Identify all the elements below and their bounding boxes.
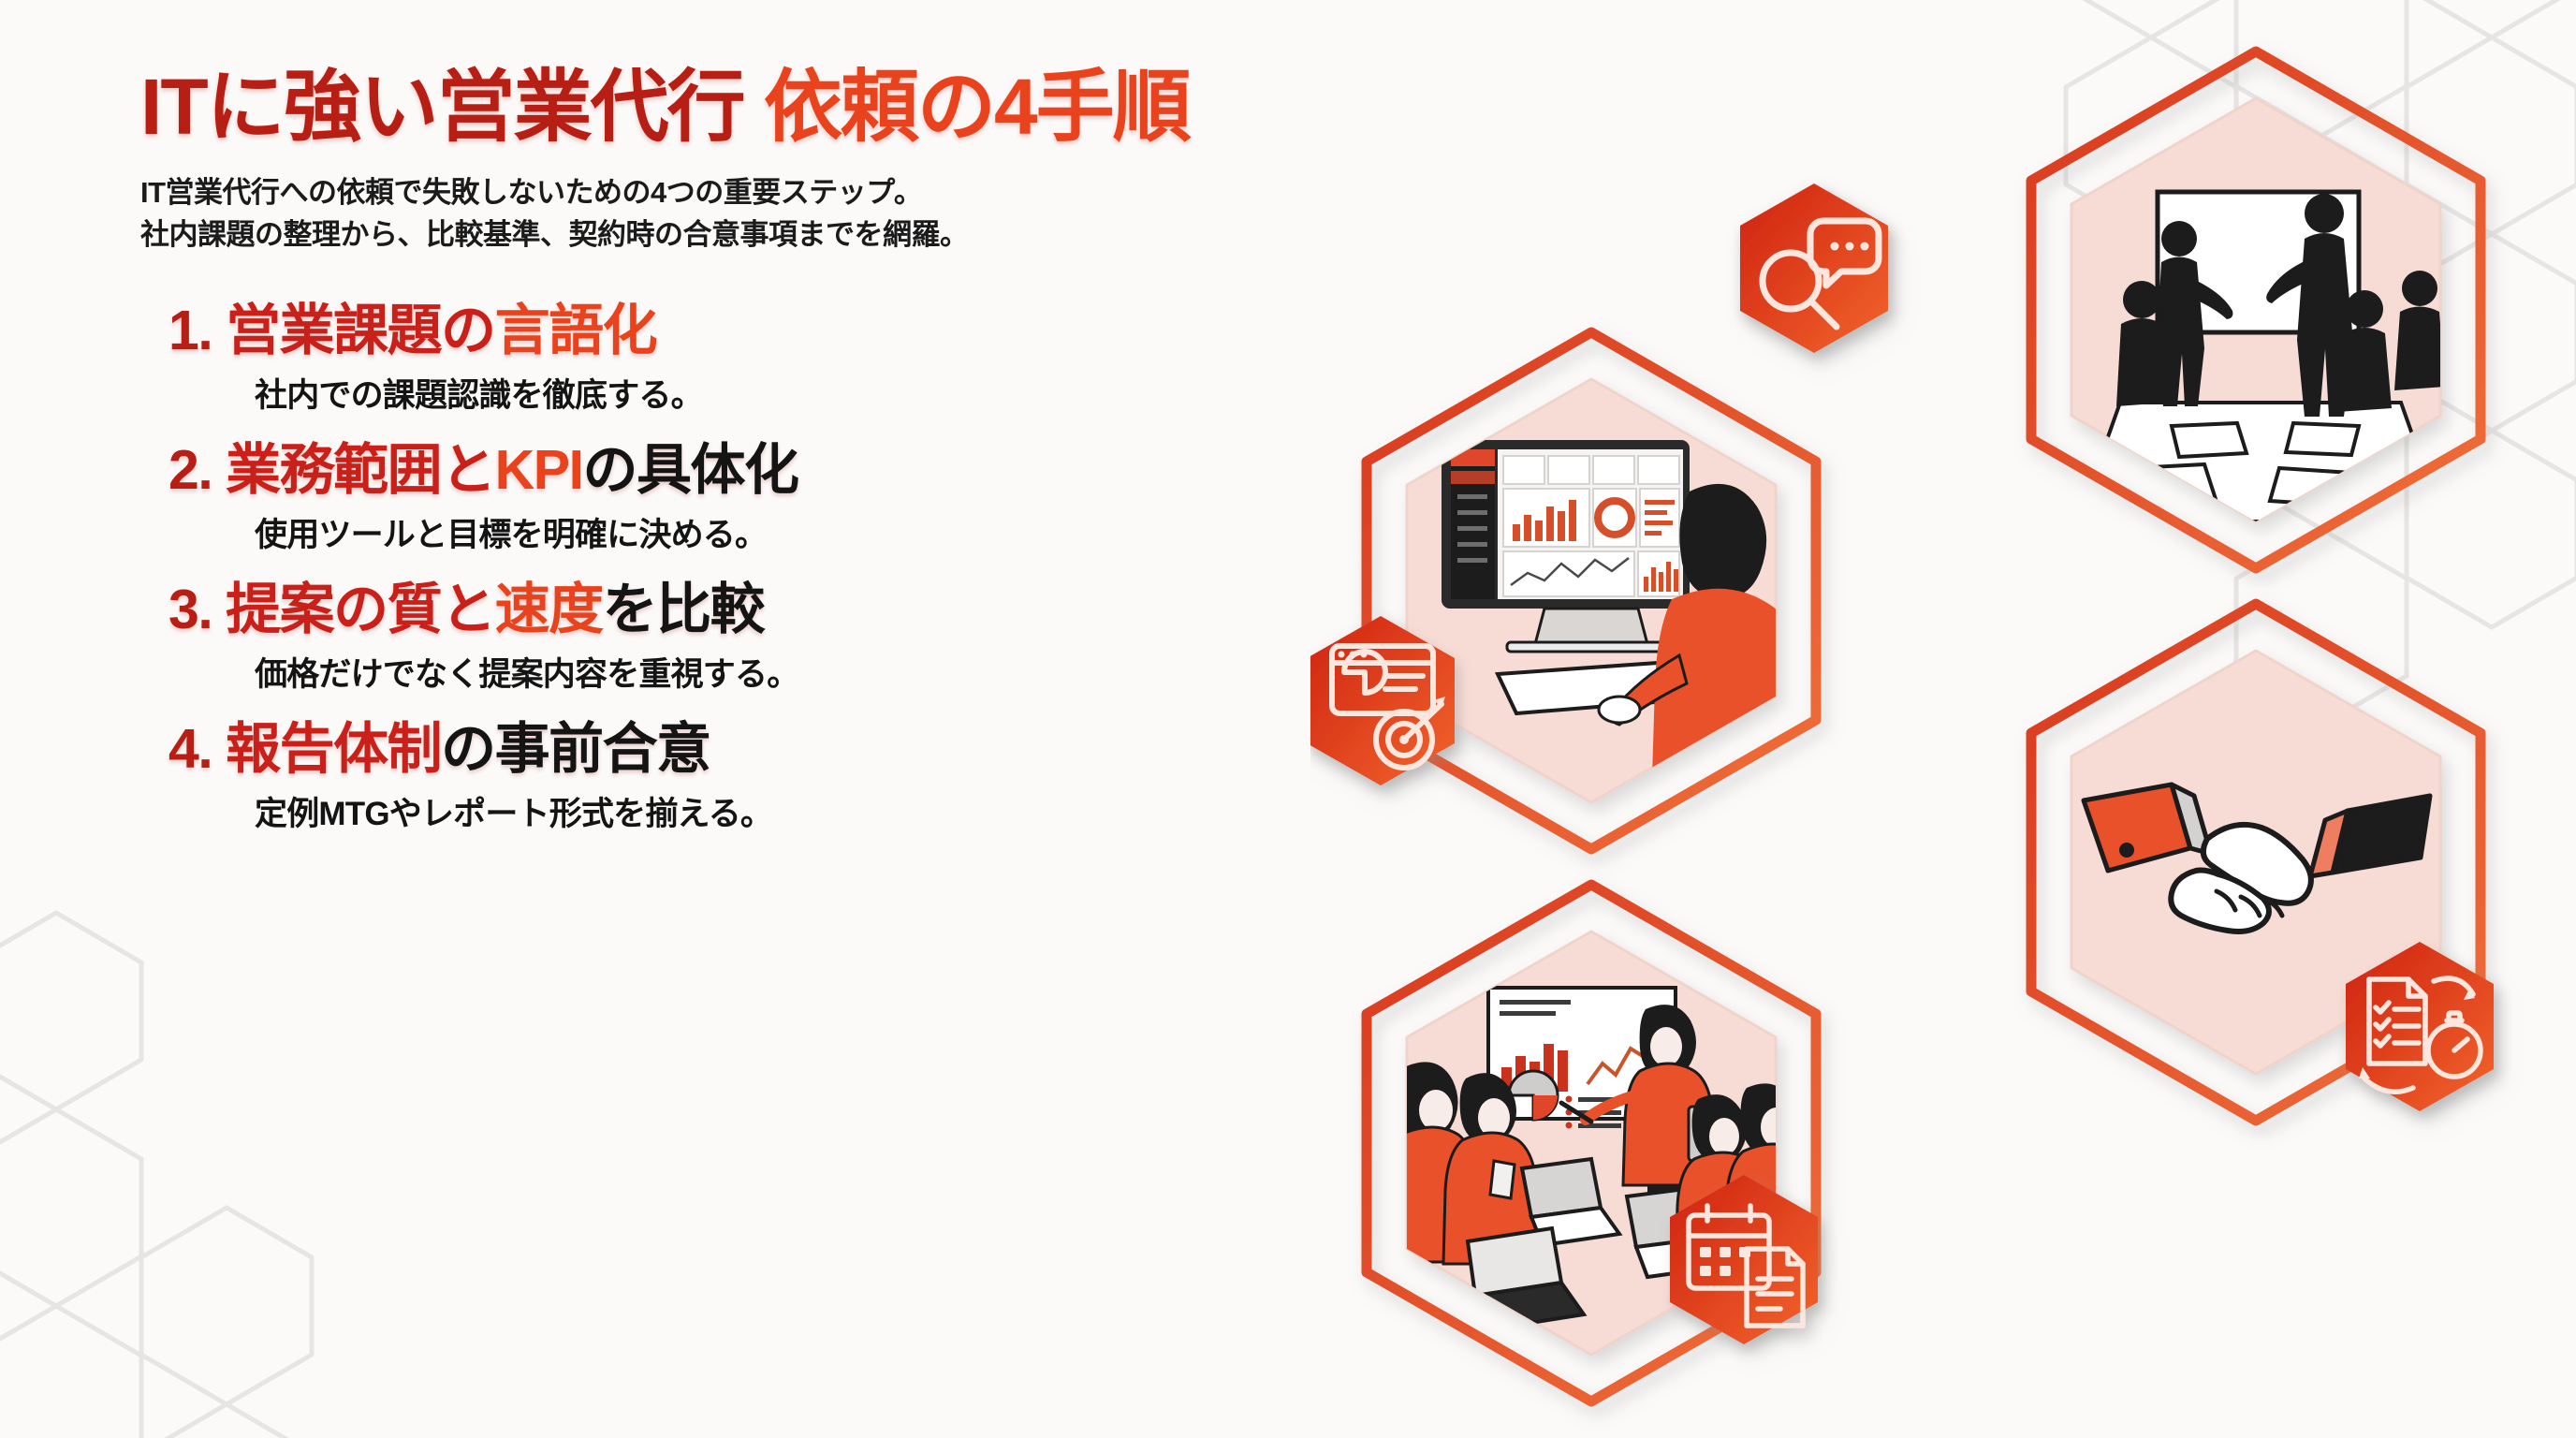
- step-3-heading-black: を比較: [603, 579, 765, 640]
- content-column: ITに強い営業代行 依頼の4手順 IT営業代行への依頼で失敗しないための4つの重…: [0, 0, 1310, 1438]
- step-item-3: 3. 提案の質と速度を比較 価格だけでなく提案内容を重視する。: [140, 579, 1310, 696]
- meeting-table: [2078, 403, 2443, 521]
- step-2-number: 2.: [168, 439, 212, 501]
- hexagon-card-meeting[interactable]: [1740, 51, 2481, 568]
- step-1-description: 社内での課題認識を徹底する。: [140, 369, 1310, 417]
- step-4-description: 定例MTGやレポート形式を揃える。: [140, 787, 1310, 835]
- step-3-heading: 3. 提案の質と速度を比較: [140, 579, 1310, 640]
- page-subtitle-line-1: IT営業代行への依頼で失敗しないための4つの重要ステップ。: [140, 172, 1310, 214]
- page-title-part2: 依頼の4手順: [764, 63, 1190, 151]
- step-item-2: 2. 業務範囲とKPIの具体化 使用ツールと目標を明確に決める。: [140, 439, 1310, 556]
- step-4-heading: 4. 報告体制の事前合意: [140, 718, 1310, 780]
- hexagon-card-team-report[interactable]: [1367, 885, 1820, 1401]
- step-item-4: 4. 報告体制の事前合意 定例MTGやレポート形式を揃える。: [140, 718, 1310, 835]
- step-3-heading-red: 提案の質と: [226, 579, 495, 640]
- step-3-number: 3.: [168, 579, 212, 640]
- page-title: ITに強い営業代行 依頼の4手順: [140, 66, 1310, 148]
- step-3-heading-orange: 速度: [495, 579, 603, 640]
- step-2-heading-black: の具体化: [583, 439, 798, 501]
- steps-list: 1. 営業課題の言語化 社内での課題認識を徹底する。 2. 業務範囲とKPIの具…: [140, 300, 1310, 835]
- step-1-heading-orange: 言語化: [495, 300, 657, 361]
- step-2-heading-orange: KPI: [495, 439, 583, 501]
- step-4-heading-red: 報告体制: [226, 718, 441, 780]
- badge-magnifier-speech[interactable]: [1740, 183, 1888, 353]
- illustration-cluster: [1310, 0, 2576, 1438]
- step-4-number: 4.: [168, 718, 212, 780]
- page-subtitle-line-2: 社内課題の整理から、比較基準、契約時の合意事項までを網羅。: [140, 214, 1310, 257]
- step-2-heading: 2. 業務範囲とKPIの具体化: [140, 439, 1310, 501]
- step-item-1: 1. 営業課題の言語化 社内での課題認識を徹底する。: [140, 300, 1310, 417]
- hexagon-card-dashboard[interactable]: [1310, 332, 1816, 849]
- step-1-heading: 1. 営業課題の言語化: [140, 300, 1310, 361]
- step-4-heading-black: の事前合意: [441, 718, 710, 780]
- hexagon-card-handshake[interactable]: [2031, 604, 2494, 1121]
- page-title-part1: ITに強い営業代行: [140, 63, 744, 151]
- step-2-description: 使用ツールと目標を明確に決める。: [140, 508, 1310, 556]
- page-subtitle: IT営業代行への依頼で失敗しないための4つの重要ステップ。 社内課題の整理から、…: [140, 172, 1310, 257]
- step-3-description: 価格だけでなく提案内容を重視する。: [140, 648, 1310, 696]
- step-1-heading-red: 営業課題の: [226, 300, 495, 361]
- step-1-number: 1.: [168, 300, 212, 361]
- step-2-heading-red: 業務範囲と: [226, 439, 495, 501]
